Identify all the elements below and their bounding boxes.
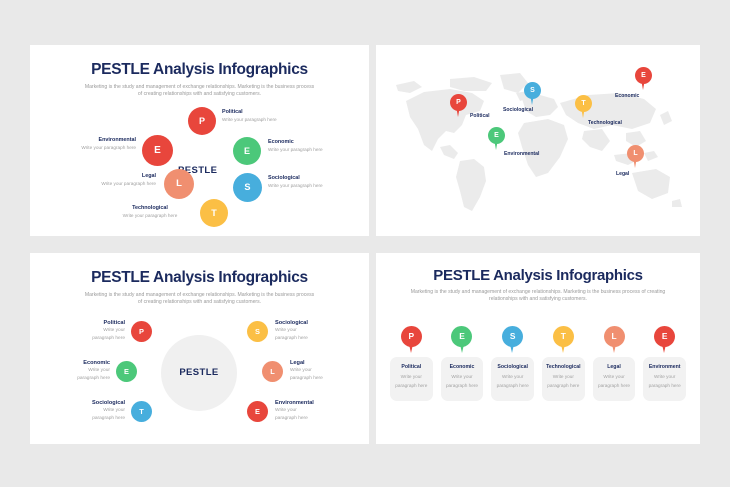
slide3-diagram: PESTLE P Political Write your paragraph … bbox=[30, 313, 369, 441]
label-title: Sociological bbox=[268, 175, 360, 182]
slide-pestle-world-map[interactable]: P Political S Sociological E Economic bbox=[376, 45, 700, 236]
card-box: Legal Write your paragraph here bbox=[593, 357, 636, 401]
map-container: P Political S Sociological E Economic bbox=[376, 45, 700, 236]
map-pin-environmental[interactable]: E bbox=[488, 127, 505, 150]
card-box: Sociological Write your paragraph here bbox=[491, 357, 534, 401]
pin-tail bbox=[641, 79, 645, 90]
pin-tail bbox=[661, 340, 667, 353]
label-title: Economic bbox=[268, 139, 360, 146]
label-title: Environmental bbox=[48, 137, 136, 144]
pin-letter: T bbox=[581, 100, 585, 107]
card-title: Sociological bbox=[494, 364, 531, 371]
card-box: Environment Write your paragraph here bbox=[643, 357, 686, 401]
label-political: Political Write your paragraph here bbox=[222, 109, 312, 124]
label-line-2: paragraph here bbox=[44, 376, 110, 382]
pin-tail bbox=[456, 106, 460, 117]
ring-bubble-economic[interactable]: E bbox=[116, 361, 137, 382]
card-line-2: paragraph here bbox=[545, 383, 582, 390]
slide4-card-row: P Political Write your paragraph here E bbox=[376, 326, 700, 401]
label-title: Political bbox=[59, 320, 125, 327]
label-line-2: paragraph here bbox=[59, 336, 125, 342]
pin-tail bbox=[560, 340, 566, 353]
ring-bubble-environmental[interactable]: E bbox=[247, 401, 268, 422]
label-line-1: Write your bbox=[59, 408, 125, 414]
map-pin-technological[interactable]: T bbox=[575, 95, 592, 118]
label-line-1: Write your bbox=[275, 328, 341, 334]
card-title: Technological bbox=[545, 364, 582, 371]
card-pin-legal: L bbox=[604, 326, 625, 353]
card-line-1: Write your bbox=[646, 374, 683, 381]
slide3-subtitle: Marketing is the study and management of… bbox=[30, 292, 369, 307]
infographic-board: PESTLE Analysis Infographics Marketing i… bbox=[0, 0, 730, 487]
label-line-2: paragraph here bbox=[290, 376, 356, 382]
bubble-letter: S bbox=[244, 182, 250, 192]
slide-pestle-ring[interactable]: PESTLE Analysis Infographics Marketing i… bbox=[30, 253, 369, 444]
bubble-letter: T bbox=[139, 407, 144, 416]
ring-label-sociological-left: Sociological Write your paragraph here bbox=[59, 400, 125, 423]
card-line-2: paragraph here bbox=[596, 383, 633, 390]
card-pin-political: P bbox=[401, 326, 422, 353]
bubble-political[interactable]: P bbox=[188, 107, 216, 135]
label-environmental: Environmental Write your paragraph here bbox=[48, 137, 136, 152]
card-economic[interactable]: E Economic Write your paragraph here bbox=[441, 326, 484, 401]
label-paragraph: Write your paragraph here bbox=[268, 183, 360, 189]
slide-pestle-cards[interactable]: PESTLE Analysis Infographics Marketing i… bbox=[376, 253, 700, 444]
bubble-letter: L bbox=[176, 178, 182, 189]
pin-tail bbox=[494, 139, 498, 150]
pin-tail bbox=[509, 340, 515, 353]
card-line-1: Write your bbox=[444, 374, 481, 381]
card-title: Legal bbox=[596, 364, 633, 371]
card-legal[interactable]: L Legal Write your paragraph here bbox=[593, 326, 636, 401]
card-box: Technological Write your paragraph here bbox=[542, 357, 585, 401]
label-sociological: Sociological Write your paragraph here bbox=[268, 175, 360, 190]
bubble-letter: S bbox=[255, 327, 260, 336]
map-pin-economic[interactable]: E bbox=[635, 67, 652, 90]
card-line-2: paragraph here bbox=[444, 383, 481, 390]
bubble-letter: E bbox=[244, 146, 250, 156]
label-title: Sociological bbox=[275, 320, 341, 327]
map-label-economic: Economic bbox=[615, 93, 639, 99]
slide1-diagram: P Political Write your paragraph here E … bbox=[30, 103, 369, 233]
slide1-subtitle: Marketing is the study and management of… bbox=[30, 84, 369, 99]
bubble-technological[interactable]: T bbox=[200, 199, 228, 227]
ring-label-political: Political Write your paragraph here bbox=[59, 320, 125, 343]
label-paragraph: Write your paragraph here bbox=[222, 117, 312, 123]
card-line-1: Write your bbox=[545, 374, 582, 381]
card-political[interactable]: P Political Write your paragraph here bbox=[390, 326, 433, 401]
ring-bubble-legal[interactable]: L bbox=[262, 361, 283, 382]
card-line-1: Write your bbox=[596, 374, 633, 381]
ring-bubble-political[interactable]: P bbox=[131, 321, 152, 342]
card-box: Political Write your paragraph here bbox=[390, 357, 433, 401]
card-box: Economic Write your paragraph here bbox=[441, 357, 484, 401]
card-environment[interactable]: E Environment Write your paragraph here bbox=[643, 326, 686, 401]
ring-label-sociological-right: Sociological Write your paragraph here bbox=[275, 320, 341, 343]
card-title: Environment bbox=[646, 364, 683, 371]
pin-letter: E bbox=[494, 132, 499, 139]
label-paragraph: Write your paragraph here bbox=[48, 145, 136, 151]
label-economic: Economic Write your paragraph here bbox=[268, 139, 360, 154]
card-title: Economic bbox=[444, 364, 481, 371]
bubble-letter: E bbox=[255, 407, 260, 416]
ring-label-economic: Economic Write your paragraph here bbox=[44, 360, 110, 383]
ring-label-environmental: Environmental Write your paragraph here bbox=[275, 400, 341, 423]
card-line-2: paragraph here bbox=[494, 383, 531, 390]
slide4-title: PESTLE Analysis Infographics bbox=[376, 267, 700, 284]
pin-tail bbox=[459, 340, 465, 353]
label-title: Legal bbox=[290, 360, 356, 367]
bubble-letter: P bbox=[199, 116, 205, 126]
label-paragraph: Write your paragraph here bbox=[268, 147, 360, 153]
map-label-political: Political bbox=[470, 113, 490, 119]
label-title: Technological bbox=[104, 205, 196, 212]
label-paragraph: Write your paragraph here bbox=[104, 213, 196, 219]
pin-letter: E bbox=[641, 72, 646, 79]
label-line-1: Write your bbox=[275, 408, 341, 414]
bubble-letter: T bbox=[211, 208, 217, 218]
card-pin-technological: T bbox=[553, 326, 574, 353]
slide3-title: PESTLE Analysis Infographics bbox=[30, 269, 369, 287]
card-line-1: Write your bbox=[393, 374, 430, 381]
label-title: Economic bbox=[44, 360, 110, 367]
pin-letter: S bbox=[530, 87, 535, 94]
card-line-1: Write your bbox=[494, 374, 531, 381]
ring-bubble-sociological-right[interactable]: S bbox=[247, 321, 268, 342]
card-pin-economic: E bbox=[451, 326, 472, 353]
label-paragraph: Write your paragraph here bbox=[64, 181, 156, 187]
pin-tail bbox=[581, 107, 585, 118]
map-label-technological: Technological bbox=[588, 120, 622, 126]
slide4-subtitle: Marketing is the study and management of… bbox=[376, 289, 700, 304]
card-pin-sociological: S bbox=[502, 326, 523, 353]
slide-pestle-circles[interactable]: PESTLE Analysis Infographics Marketing i… bbox=[30, 45, 369, 236]
card-title: Political bbox=[393, 364, 430, 371]
card-line-2: paragraph here bbox=[393, 383, 430, 390]
ring-bubble-sociological-left[interactable]: T bbox=[131, 401, 152, 422]
map-pin-legal[interactable]: L bbox=[627, 145, 644, 168]
hub-label: PESTLE bbox=[179, 367, 218, 378]
label-title: Environmental bbox=[275, 400, 341, 407]
label-title: Political bbox=[222, 109, 312, 116]
pin-tail bbox=[530, 94, 534, 105]
bubble-economic[interactable]: E bbox=[233, 137, 261, 165]
ring-label-legal: Legal Write your paragraph here bbox=[290, 360, 356, 383]
bubble-sociological[interactable]: S bbox=[233, 173, 262, 202]
pin-letter: P bbox=[456, 99, 461, 106]
map-pin-political[interactable]: P bbox=[450, 94, 467, 117]
bubble-letter: E bbox=[124, 367, 129, 376]
bubble-legal[interactable]: L bbox=[164, 169, 194, 199]
label-legal: Legal Write your paragraph here bbox=[64, 173, 156, 188]
slide1-title: PESTLE Analysis Infographics bbox=[30, 61, 369, 79]
center-hub-pestle: PESTLE bbox=[161, 335, 237, 411]
pin-tail bbox=[611, 340, 617, 353]
card-pin-environment: E bbox=[654, 326, 675, 353]
label-title: Sociological bbox=[59, 400, 125, 407]
label-line-1: Write your bbox=[59, 328, 125, 334]
label-line-2: paragraph here bbox=[275, 416, 341, 422]
map-label-sociological: Sociological bbox=[503, 107, 533, 113]
pin-tail bbox=[408, 340, 414, 353]
bubble-environmental[interactable]: E bbox=[142, 135, 173, 166]
label-title: Legal bbox=[64, 173, 156, 180]
bubble-letter: L bbox=[270, 367, 275, 376]
label-line-1: Write your bbox=[290, 368, 356, 374]
map-label-legal: Legal bbox=[616, 171, 629, 177]
map-label-environmental: Environmental bbox=[504, 151, 539, 157]
card-line-2: paragraph here bbox=[646, 383, 683, 390]
card-technological[interactable]: T Technological Write your paragraph her… bbox=[542, 326, 585, 401]
label-technological: Technological Write your paragraph here bbox=[104, 205, 196, 220]
label-line-2: paragraph here bbox=[59, 416, 125, 422]
label-line-1: Write your bbox=[44, 368, 110, 374]
bubble-letter: P bbox=[139, 327, 144, 336]
map-pin-sociological[interactable]: S bbox=[524, 82, 541, 105]
label-line-2: paragraph here bbox=[275, 336, 341, 342]
card-sociological[interactable]: S Sociological Write your paragraph here bbox=[491, 326, 534, 401]
bubble-letter: E bbox=[154, 145, 161, 156]
pin-tail bbox=[633, 157, 637, 168]
pin-letter: L bbox=[633, 150, 637, 157]
